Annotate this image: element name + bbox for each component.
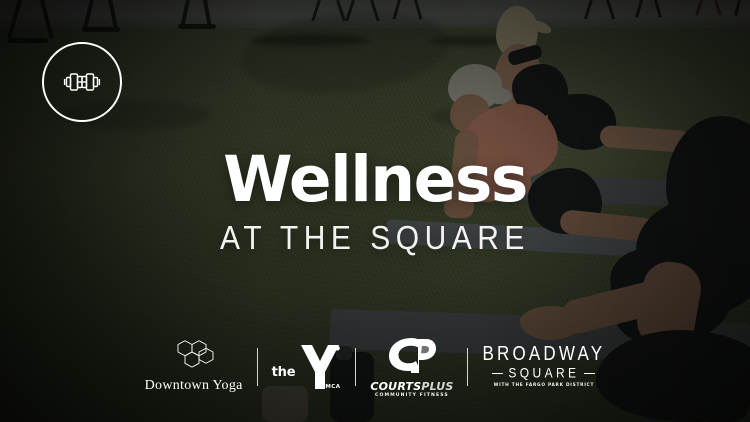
- sponsor-name-courts-plus: COURTSPLUS: [370, 381, 453, 392]
- rule-left-icon: [492, 373, 503, 374]
- sponsor-sub-courts-plus: COMMUNITY FITNESS: [375, 394, 449, 399]
- courts-plus-cp-monogram-icon: [385, 336, 439, 379]
- page-subtitle: AT THE SQUARE: [0, 222, 750, 256]
- page-title: Wellness: [0, 148, 750, 211]
- sponsor-logo-downtown-yoga[interactable]: Downtown Yoga: [131, 338, 257, 396]
- sponsor-name-downtown-yoga: Downtown Yoga: [145, 378, 243, 394]
- sponsor-logo-courts-plus[interactable]: COURTSPLUS COMMUNITY FITNESS: [356, 338, 467, 396]
- sponsor-sub-broadway-square: WITH THE FARGO PARK DISTRICT: [494, 384, 594, 388]
- ymca-y-icon: YMCA: [299, 343, 341, 391]
- sponsor-name-square: SQUARE: [508, 366, 579, 380]
- sponsor-logo-the-y[interactable]: the YMCA: [258, 338, 356, 396]
- broadway-square-midline: SQUARE: [492, 367, 595, 379]
- wellness-badge: [42, 42, 122, 122]
- wellness-at-the-square-poster: Wellness AT THE SQUARE Downtown Yoga: [0, 0, 750, 422]
- sponsor-logo-broadway-square[interactable]: BROADWAY SQUARE WITH THE FARGO PARK DIST…: [468, 338, 619, 396]
- honeycomb-hexagons-icon: [164, 340, 224, 375]
- sponsor-name-broadway: BROADWAY: [482, 343, 605, 364]
- poster-content: Wellness AT THE SQUARE Downtown Yoga: [0, 0, 750, 422]
- dumbbell-icon: [60, 69, 104, 95]
- sponsor-sub-ymca: YMCA: [321, 385, 340, 391]
- rule-right-icon: [584, 373, 595, 374]
- sponsor-logo-strip: Downtown Yoga the YMCA: [0, 338, 750, 396]
- logo-divider-3: [467, 348, 468, 386]
- logo-divider-2: [355, 348, 356, 386]
- sponsor-name-the: the: [272, 366, 296, 391]
- logo-divider-1: [257, 348, 258, 386]
